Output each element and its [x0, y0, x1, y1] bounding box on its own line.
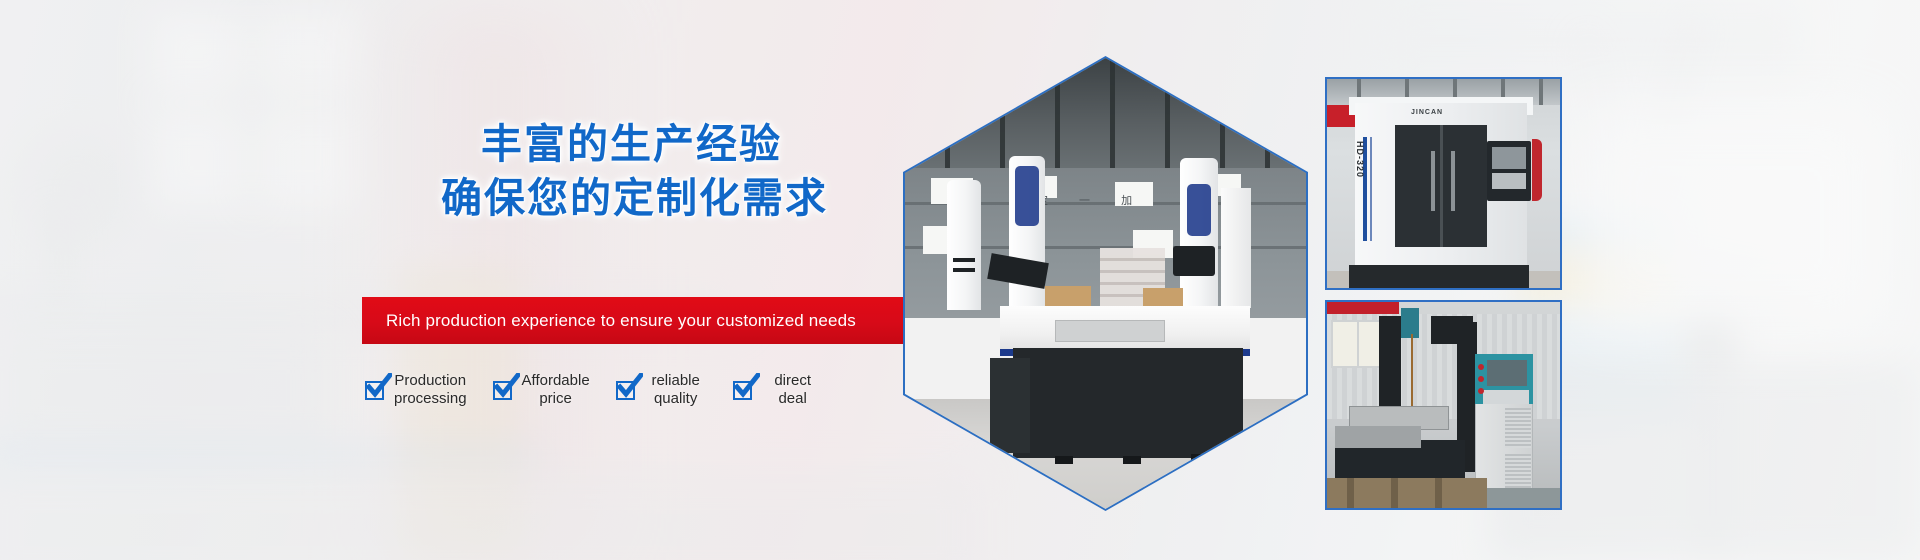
machine-red-guard: [1532, 139, 1542, 201]
feature-label-line-2: processing: [394, 390, 467, 408]
feature-label: direct deal: [762, 372, 824, 408]
feature-label: Production processing: [394, 372, 467, 408]
edm-pallet-board-c: [1435, 478, 1442, 510]
edm-control-keypad: [1483, 390, 1529, 404]
feature-label-line-1: reliable: [645, 372, 707, 390]
hexagon-photo-content: 定 一 加: [905, 58, 1306, 509]
machine-left-slot: [953, 258, 975, 262]
feature-label-line-2: quality: [645, 390, 707, 408]
feature-label-line-1: Affordable: [522, 372, 590, 390]
edm-pallet-board-b: [1391, 478, 1398, 510]
machine-right-housing: [1221, 188, 1251, 308]
machine-model-label: HD-320: [1355, 141, 1365, 178]
feature-item-affordable-price: Affordable price: [493, 372, 590, 408]
machine-control-keypad: [1492, 173, 1526, 189]
machine-foot-a: [1055, 456, 1073, 464]
edm-button-b: [1478, 376, 1484, 382]
feature-label-line-1: Production: [394, 372, 467, 390]
edm-vent-upper: [1505, 408, 1531, 448]
edm-vent-lower: [1505, 454, 1531, 488]
subheadline-banner: Rich production experience to ensure you…: [362, 297, 905, 344]
check-mark-icon: [617, 373, 643, 399]
hexagon-photo: 定 一 加: [905, 58, 1306, 509]
headline-line-1: 丰富的生产经验: [362, 118, 907, 171]
check-mark-icon: [494, 373, 520, 399]
checkbox-checked-icon: [616, 381, 635, 400]
side-photo-edm-machine: [1325, 300, 1562, 510]
workshop-sign: 定 一 加: [1037, 192, 1146, 208]
feature-label-line-1: direct: [762, 372, 824, 390]
machine-bed-window: [1055, 320, 1165, 342]
photo-bottom-window-bar: [1357, 320, 1359, 368]
hexagon-photo-frame: 定 一 加: [903, 56, 1308, 511]
edm-table: [1335, 426, 1421, 448]
feature-item-reliable-quality: reliable quality: [616, 372, 707, 408]
machine-base-left: [990, 358, 1030, 453]
machine-door-handle-right: [1451, 151, 1455, 211]
feature-label: reliable quality: [645, 372, 707, 408]
machine-foot-b: [1123, 456, 1141, 464]
checkbox-checked-icon: [365, 381, 384, 400]
edm-control-screen: [1487, 360, 1527, 386]
headline-block: 丰富的生产经验 确保您的定制化需求: [362, 118, 907, 225]
checkbox-checked-icon: [493, 381, 512, 400]
headline-line-2: 确保您的定制化需求: [362, 172, 907, 225]
feature-label-line-2: price: [522, 390, 590, 408]
machine-base: [1013, 348, 1243, 458]
edm-gantry-left: [1379, 316, 1401, 412]
machine-spindle-column-right: [1180, 158, 1218, 306]
machine-blue-stripe-thin: [1370, 137, 1372, 241]
feature-list: Production processing Affordable price: [365, 372, 850, 408]
check-mark-icon: [366, 373, 392, 399]
machine-left-column: [947, 180, 981, 310]
machine-plinth: [1349, 265, 1529, 289]
machine-door-split: [1440, 125, 1443, 247]
machine-control-screen: [1492, 147, 1526, 169]
edm-button-c: [1478, 388, 1484, 394]
subheadline-text: Rich production experience to ensure you…: [362, 311, 856, 331]
checkbox-checked-icon: [733, 381, 752, 400]
edm-button-a: [1478, 364, 1484, 370]
machine-brand-label: JINCAN: [1411, 109, 1443, 116]
hero-banner: 丰富的生产经验 确保您的定制化需求 Rich production experi…: [0, 0, 1920, 560]
side-photo-machining-center: HD-320 JINCAN: [1325, 77, 1562, 290]
machine-door-handle-left: [1431, 151, 1435, 211]
machine-left-slot-2: [953, 268, 975, 272]
edm-wire: [1411, 334, 1413, 414]
check-mark-icon: [734, 373, 760, 399]
feature-item-direct-deal: direct deal: [733, 372, 824, 408]
edm-head: [1401, 308, 1419, 338]
feature-label-line-2: deal: [762, 390, 824, 408]
feature-item-production-processing: Production processing: [365, 372, 467, 408]
edm-pallet-board-a: [1347, 478, 1354, 510]
workshop-roof: [905, 58, 1306, 176]
machine-right-head: [1173, 246, 1215, 276]
feature-label: Affordable price: [522, 372, 590, 408]
